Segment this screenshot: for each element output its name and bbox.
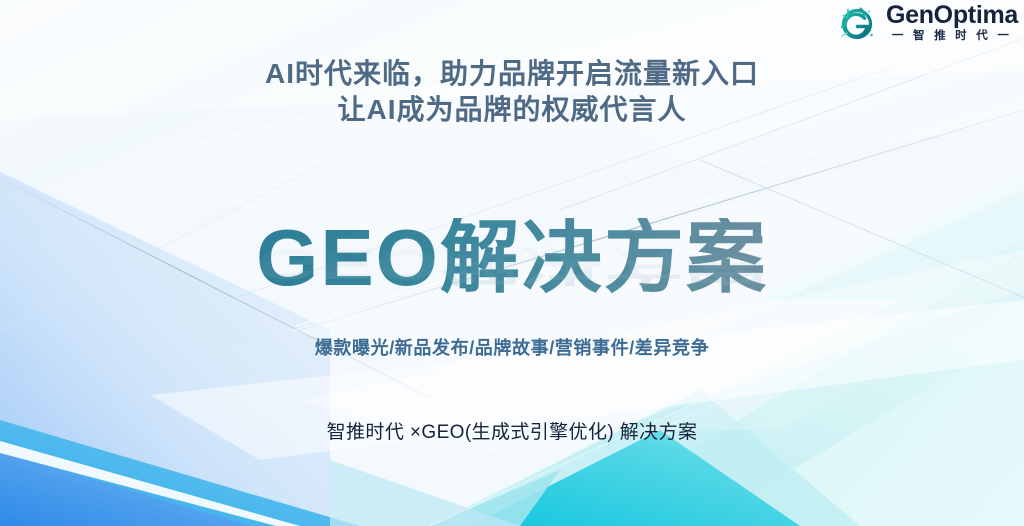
headline-block: AI时代来临，助力品牌开启流量新入口 让AI成为品牌的权威代言人 — [0, 56, 1024, 129]
logo-name: GenOptima — [886, 3, 1018, 28]
page-title: GEO解决方案 — [256, 218, 768, 298]
headline-line-1: AI时代来临，助力品牌开启流量新入口 — [0, 56, 1024, 93]
logo-tagline: 一 智 推 时 代 一 — [892, 31, 1012, 43]
presentation-slide: GenOptima 一 智 推 时 代 一 AI时代来临，助力品牌开启流量新入口… — [0, 0, 1024, 526]
brand-logo: GenOptima 一 智 推 时 代 一 — [836, 2, 1018, 44]
keywords-line: 爆款曝光/新品发布/品牌故事/营销事件/差异竞争 — [0, 334, 1024, 360]
genoptima-g-icon — [836, 2, 880, 44]
footer-subtitle: 智推时代 ×GEO(生成式引擎优化) 解决方案 — [0, 417, 1024, 444]
headline-line-2: 让AI成为品牌的权威代言人 — [0, 92, 1024, 129]
logo-text-block: GenOptima 一 智 推 时 代 一 — [886, 3, 1018, 43]
